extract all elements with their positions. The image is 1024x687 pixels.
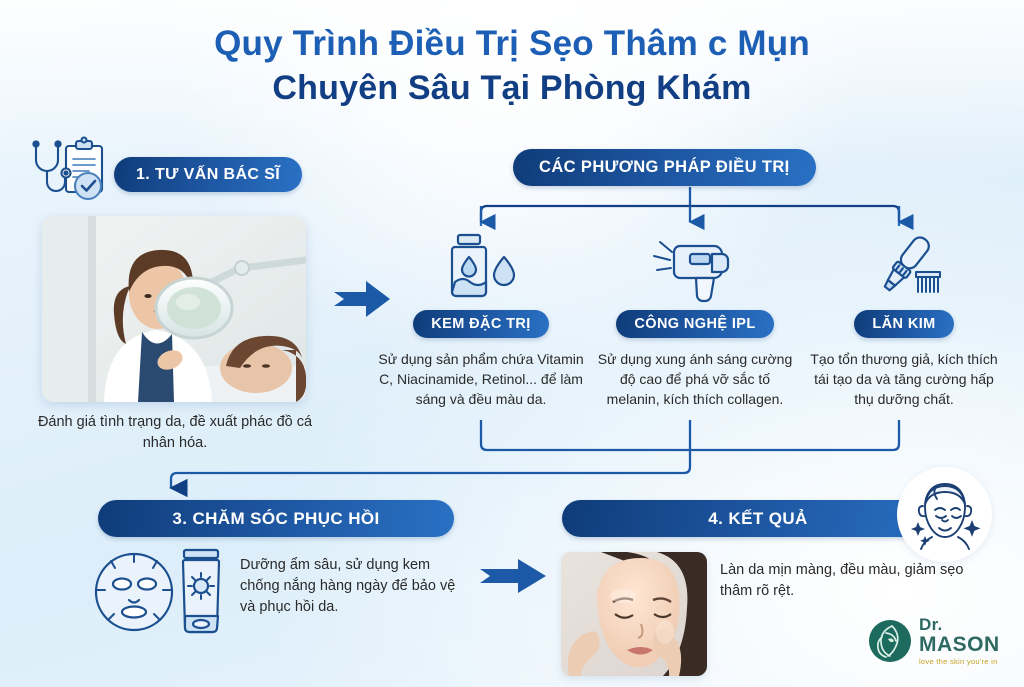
treatment-column-ipl: CÔNG NGHỆ IPL Sử dụng xung ánh sáng cườn… (595, 228, 795, 409)
treatment-desc-cream: Sử dụng sản phẩm chứa Vitamin C, Niacina… (376, 349, 586, 409)
treatment-desc-microneedling: Tạo tổn thương giả, kích thích tái tạo d… (806, 349, 1002, 409)
logo-name-text: MASON (919, 634, 1000, 655)
section-3-icons (90, 546, 230, 638)
title-line-1: Quy Trình Điều Trị Sẹo Thâm c Mụn (0, 22, 1024, 66)
page-title: Quy Trình Điều Trị Sẹo Thâm c Mụn Chuyên… (0, 22, 1024, 110)
treatment-column-cream: KEM ĐẶC TRỊ Sử dụng sản phẩm chứa Vitami… (376, 228, 586, 409)
treatment-label-cream[interactable]: KEM ĐẶC TRỊ (413, 310, 548, 338)
dr-mason-leaf-face-emblem (868, 619, 912, 663)
sheet-mask-icon (96, 554, 172, 630)
sunscreen-tube-icon (183, 550, 219, 632)
treatment-desc-ipl: Sử dụng xung ánh sáng cường độ cao để ph… (595, 349, 795, 409)
microneedling-pen-icon (806, 228, 1002, 302)
brand-logo[interactable]: Dr. MASON love the skin you're in (868, 616, 1000, 666)
doctor-examining-patient-photo (42, 216, 306, 402)
glowing-clear-skin-result-photo (561, 552, 707, 676)
section-3-text: Dưỡng ẩm sâu, sử dụng kem chống nắng hàn… (240, 555, 472, 618)
cream-tube-droplet-icon (376, 228, 586, 302)
section-4-badge[interactable]: 4. KẾT QUẢ (562, 500, 954, 537)
clipboard-stethoscope-check-icon (26, 136, 114, 208)
arrow-right-section1-to-treatments (332, 276, 394, 322)
ipl-laser-handpiece-icon (595, 228, 795, 302)
infographic-canvas: Quy Trình Điều Trị Sẹo Thâm c Mụn Chuyên… (0, 0, 1024, 687)
serene-face-sparkle-icon (897, 467, 992, 562)
section-3-badge[interactable]: 3. CHĂM SÓC PHỤC HỒI (98, 500, 454, 537)
logo-tagline: love the skin you're in (919, 658, 1000, 666)
section-4-text: Làn da mịn màng, đều màu, giảm sẹo thâm … (720, 560, 970, 602)
treatment-label-microneedling[interactable]: LĂN KIM (854, 310, 953, 338)
section-1-badge[interactable]: 1. TƯ VẤN BÁC SĨ (114, 157, 302, 192)
treatments-banner[interactable]: CÁC PHƯƠNG PHÁP ĐIỀU TRỊ (513, 149, 816, 186)
treatment-column-microneedling: LĂN KIM Tạo tổn thương giả, kích thích t… (806, 228, 1002, 409)
title-line-2: Chuyên Sâu Tại Phòng Khám (0, 66, 1024, 110)
treatment-label-ipl[interactable]: CÔNG NGHỆ IPL (616, 310, 773, 338)
connector-banner-to-columns (481, 187, 899, 226)
arrow-right-section3-to-section4 (478, 555, 550, 597)
section-1-caption: Đánh giá tình trạng da, đề xuất phác đồ … (32, 412, 318, 454)
logo-dr-text: Dr. (919, 616, 1000, 633)
